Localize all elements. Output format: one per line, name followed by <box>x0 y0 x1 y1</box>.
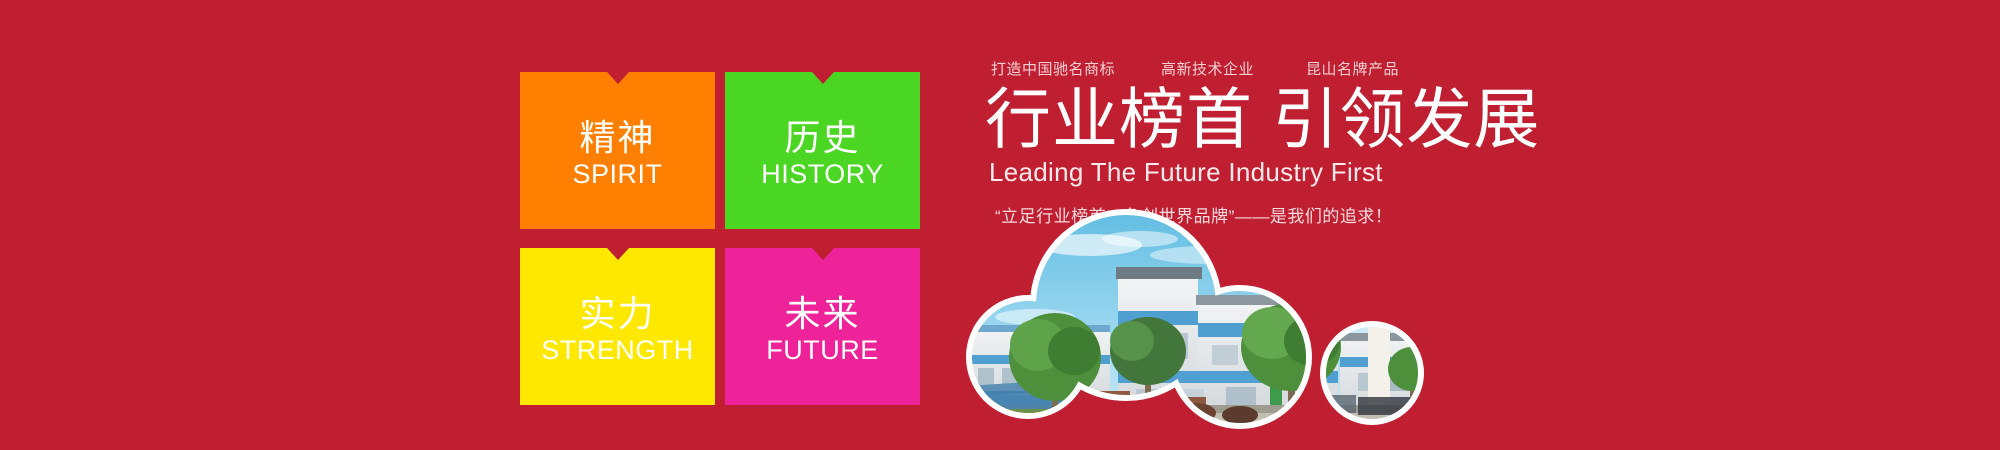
value-tile-grid: 精神 SPIRIT 历史 HISTORY 实力 STRENGTH 未来 FUTU… <box>520 72 920 405</box>
tile-history[interactable]: 历史 HISTORY <box>725 72 920 229</box>
factory-photo-cloud <box>940 205 1500 450</box>
page-subtitle: Leading The Future Industry First <box>985 157 1625 188</box>
tree <box>1110 317 1186 429</box>
notch-icon <box>812 72 834 84</box>
headline-block: 打造中国驰名商标 高新技术企业 昆山名牌产品 行业榜首 引领发展 Leading… <box>985 58 1625 227</box>
tile-label-cn: 未来 <box>784 295 860 333</box>
tile-future[interactable]: 未来 FUTURE <box>725 248 920 405</box>
tile-label-cn: 精神 <box>579 119 655 157</box>
tile-label-en: STRENGTH <box>541 335 694 366</box>
banner-root: 精神 SPIRIT 历史 HISTORY 实力 STRENGTH 未来 FUTU… <box>0 0 2000 450</box>
tile-label-en: FUTURE <box>766 335 879 366</box>
badge-item: 高新技术企业 <box>1161 58 1254 79</box>
credential-badges: 打造中国驰名商标 高新技术企业 昆山名牌产品 <box>985 58 1625 80</box>
tile-strength[interactable]: 实力 STRENGTH <box>520 248 715 405</box>
tile-label-en: HISTORY <box>761 159 884 190</box>
cloud-photo-svg <box>940 205 1500 450</box>
notch-icon <box>812 248 834 260</box>
notch-icon <box>607 248 629 260</box>
badge-item: 打造中国驰名商标 <box>991 58 1115 79</box>
tile-label-cn: 实力 <box>579 295 655 333</box>
tile-label-en: SPIRIT <box>572 159 662 190</box>
tile-label-cn: 历史 <box>784 119 860 157</box>
page-title: 行业榜首 引领发展 <box>985 84 1625 155</box>
badge-item: 昆山名牌产品 <box>1306 58 1399 79</box>
tile-spirit[interactable]: 精神 SPIRIT <box>520 72 715 229</box>
notch-icon <box>607 72 629 84</box>
